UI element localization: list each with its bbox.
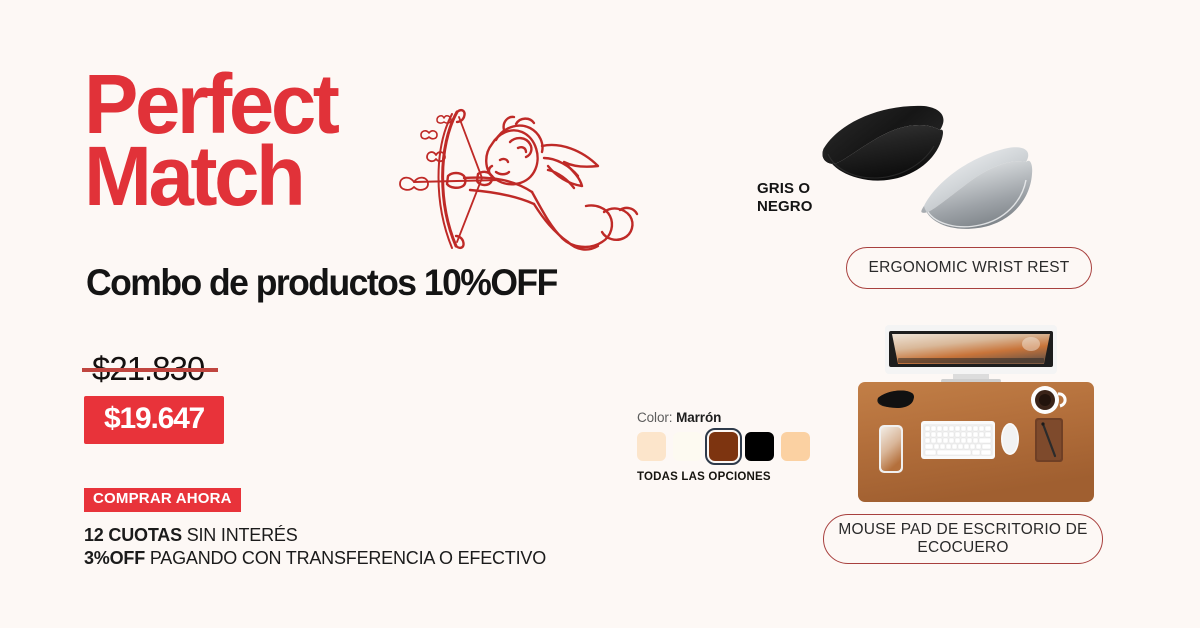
old-price: $21.830 (88, 350, 208, 388)
phone (879, 425, 903, 473)
mouse-pad-pill-line-1: MOUSE PAD DE ESCRITORIO DE (838, 521, 1087, 539)
notebook (1035, 418, 1063, 462)
wrist-rest-black (822, 106, 943, 181)
swatch-marron[interactable] (709, 432, 738, 461)
mouse-pad-pill-label: MOUSE PAD DE ESCRITORIO DE ECOCUERO (838, 521, 1087, 558)
monitor (885, 325, 1057, 383)
promo-banner: Perfect Match (0, 0, 1200, 628)
wrist-rest-silver (921, 147, 1032, 229)
wrist-rest-pill-label: ERGONOMIC WRIST REST (869, 259, 1070, 277)
installments-rest: SIN INTERÉS (182, 525, 298, 545)
payment-terms: 12 CUOTAS SIN INTERÉS 3%OFF PAGANDO CON … (84, 524, 546, 570)
swatch-negro[interactable] (745, 432, 774, 461)
all-options-label[interactable]: TODAS LAS OPCIONES (637, 471, 827, 483)
keyboard (921, 421, 995, 459)
mouse-pad-pill-line-2: ECOCUERO (838, 539, 1087, 557)
color-selected-value: Marrón (676, 410, 721, 425)
swatch-row (637, 432, 827, 461)
buy-now-button[interactable]: COMPRAR AHORA (84, 488, 241, 512)
color-label: Color: Marrón (637, 410, 827, 425)
new-price-badge: $19.647 (84, 396, 224, 444)
headline-line-2: Match (84, 140, 404, 212)
swatch-crema[interactable] (673, 432, 702, 461)
color-selector: Color: Marrón TODAS LAS OPCIONES (637, 410, 827, 483)
swatch-durazno[interactable] (781, 432, 810, 461)
headline: Perfect Match (84, 68, 414, 212)
subhead: Combo de productos 10%OFF (86, 262, 557, 304)
cupid-icon (392, 100, 648, 270)
wrist-rest-pill[interactable]: ERGONOMIC WRIST REST (846, 247, 1092, 289)
wrist-rest-images (812, 96, 1112, 236)
variant-label-line-2: NEGRO (757, 198, 813, 216)
terms-line-1: 12 CUOTAS SIN INTERÉS (84, 524, 546, 547)
discount-amount: 3%OFF (84, 548, 145, 568)
mouse (1001, 423, 1019, 455)
buy-now-label: COMPRAR AHORA (93, 491, 232, 508)
new-price-value: $19.647 (104, 404, 204, 434)
installments-count: 12 CUOTAS (84, 525, 182, 545)
wrist-rest-variant-label: GRIS O NEGRO (757, 180, 813, 217)
strikethrough-line (82, 368, 218, 372)
mouse-pad-pill[interactable]: MOUSE PAD DE ESCRITORIO DE ECOCUERO (823, 514, 1103, 564)
mouse-pad-image (845, 322, 1107, 508)
swatch-beige-claro[interactable] (637, 432, 666, 461)
variant-label-line-1: GRIS O (757, 180, 813, 198)
discount-rest: PAGANDO CON TRANSFERENCIA O EFECTIVO (145, 548, 546, 568)
color-label-prefix: Color: (637, 410, 672, 425)
terms-line-2: 3%OFF PAGANDO CON TRANSFERENCIA O EFECTI… (84, 547, 546, 570)
